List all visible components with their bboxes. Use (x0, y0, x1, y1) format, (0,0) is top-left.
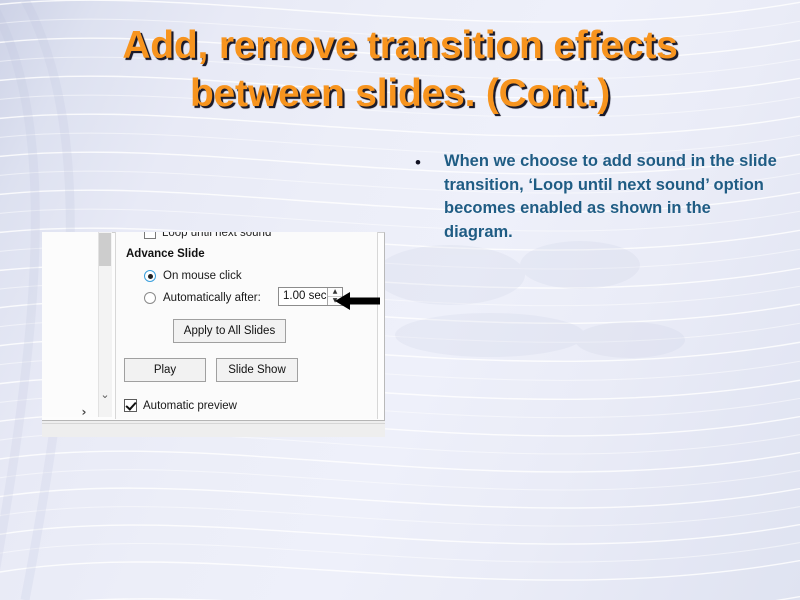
bullet-item-text: When we choose to add sound in the slide… (444, 150, 778, 244)
dialog-content-pane: Loop until next sound Advance Slide On m… (115, 232, 378, 419)
background-watermark (330, 225, 750, 400)
dialog-bottom-strip (42, 420, 385, 437)
radio-automatically-after[interactable]: Automatically after: (144, 292, 261, 304)
advance-slide-section-header: Advance Slide (126, 248, 205, 260)
vertical-scrollbar-thumb[interactable] (99, 233, 111, 266)
radio-on-mouse-click-label: On mouse click (163, 270, 242, 282)
loop-until-next-sound-label: Loop until next sound (162, 232, 271, 239)
radio-dot-icon[interactable] (144, 292, 156, 304)
dialog-left-pane (42, 232, 98, 417)
radio-automatically-after-label: Automatically after: (163, 292, 261, 304)
radio-on-mouse-click[interactable]: On mouse click (144, 270, 242, 282)
checkbox-checked-icon[interactable] (124, 399, 137, 412)
bullet-list: • When we choose to add sound in the sli… (408, 150, 778, 244)
scroll-down-chevron-icon[interactable]: ⌄ (98, 387, 112, 403)
slide-canvas: Add, remove transition effects between s… (0, 0, 800, 600)
radio-dot-icon[interactable] (144, 270, 156, 282)
spinner-up-arrow-icon[interactable]: ▲ (328, 288, 342, 297)
loop-until-next-sound-checkbox[interactable]: Loop until next sound (144, 232, 271, 240)
apply-to-all-slides-button[interactable]: Apply to All Slides (173, 319, 286, 343)
checkbox-box-icon[interactable] (144, 232, 156, 239)
advance-time-value[interactable]: 1.00 sec (279, 288, 327, 305)
bullet-marker-icon: • (408, 150, 444, 244)
slide-show-button[interactable]: Slide Show (216, 358, 298, 382)
play-button[interactable]: Play (124, 358, 206, 382)
automatic-preview-checkbox[interactable]: Automatic preview (124, 399, 237, 412)
embedded-dialog-screenshot: ⌄ › Loop until next sound Advance Slide … (42, 232, 385, 437)
spinner-down-arrow-icon[interactable]: ▼ (328, 297, 342, 305)
spinner-buttons[interactable]: ▲ ▼ (327, 288, 342, 305)
expand-chevron-right-icon[interactable]: › (76, 404, 92, 420)
automatic-preview-label: Automatic preview (143, 400, 237, 412)
slide-title: Add, remove transition effects between s… (40, 22, 760, 118)
advance-time-spinner[interactable]: 1.00 sec ▲ ▼ (278, 287, 343, 306)
